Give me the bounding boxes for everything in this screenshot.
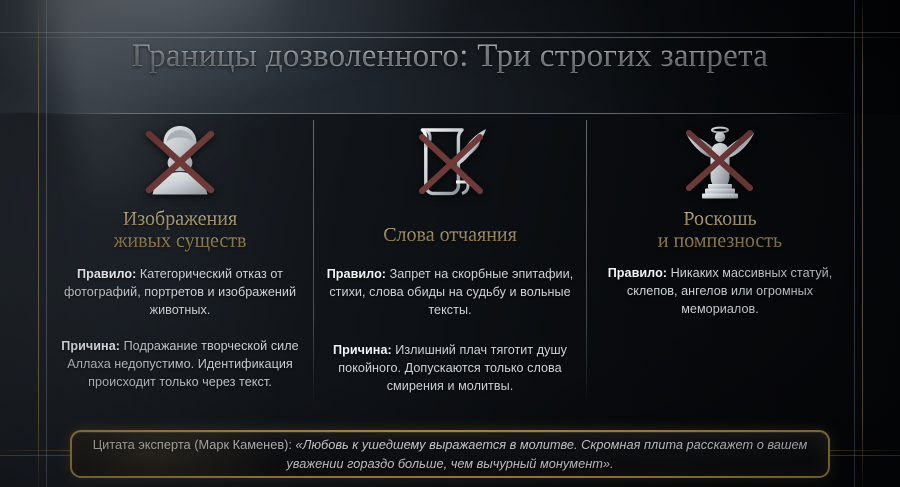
rule-paragraph-3: Правило: Никаких массивных статуй, склеп… xyxy=(594,265,846,319)
rule-paragraph-1: Правило: Категорический отказ от фотогра… xyxy=(54,266,306,320)
rule-label: Правило: xyxy=(77,267,136,281)
rule-title-3: Роскошь и помпезность xyxy=(658,208,782,253)
rule-column-2: Слова отчаяния Правило: Запрет на скорбн… xyxy=(314,116,586,406)
rule-column-3: Роскошь и помпезность Правило: Никаких м… xyxy=(586,116,854,406)
rule-paragraph-2: Правило: Запрет на скорбные эпитафии, ст… xyxy=(322,266,578,320)
rule-label: Правило: xyxy=(327,267,386,281)
reason-paragraph-1: Причина: Подражание творческой силе Алла… xyxy=(54,338,306,392)
rules-columns: Изображения живых существ Правило: Катег… xyxy=(46,116,854,406)
quote-prefix: Цитата эксперта (Марк Каменев): xyxy=(93,437,296,452)
rule-column-1: Изображения живых существ Правило: Катег… xyxy=(46,116,314,406)
rule-title-2: Слова отчаяния xyxy=(383,224,517,246)
rule-title-line: Изображения xyxy=(114,208,247,230)
expert-quote-text: Цитата эксперта (Марк Каменев): «Любовь … xyxy=(90,435,810,473)
reason-label: Причина: xyxy=(333,343,392,357)
header-divider xyxy=(46,113,854,114)
rule-title-1: Изображения живых существ xyxy=(114,208,247,253)
crossed-out-portrait-bust-icon xyxy=(134,116,226,208)
reason-paragraph-2: Причина: Излишний плач тяготит душу поко… xyxy=(322,342,578,396)
quote-body: «Любовь к ушедшему выражается в молитве.… xyxy=(286,437,807,471)
expert-quote-box: Цитата эксперта (Марк Каменев): «Любовь … xyxy=(70,430,830,478)
rule-title-line: Роскошь xyxy=(658,208,782,230)
rule-title-line: живых существ xyxy=(114,230,247,252)
rule-title-line: Слова отчаяния xyxy=(383,224,517,246)
slide-canvas: Границы дозволенного: Три строгих запрет… xyxy=(0,0,900,487)
reason-label: Причина: xyxy=(61,339,120,353)
crossed-out-angel-statue-icon xyxy=(674,116,766,208)
rule-title-line: и помпезность xyxy=(658,230,782,252)
crossed-out-scroll-quill-icon xyxy=(404,116,496,208)
slide-header: Границы дозволенного: Три строгих запрет… xyxy=(0,0,900,113)
page-title: Границы дозволенного: Три строгих запрет… xyxy=(132,38,768,75)
rule-label: Правило: xyxy=(608,266,667,280)
